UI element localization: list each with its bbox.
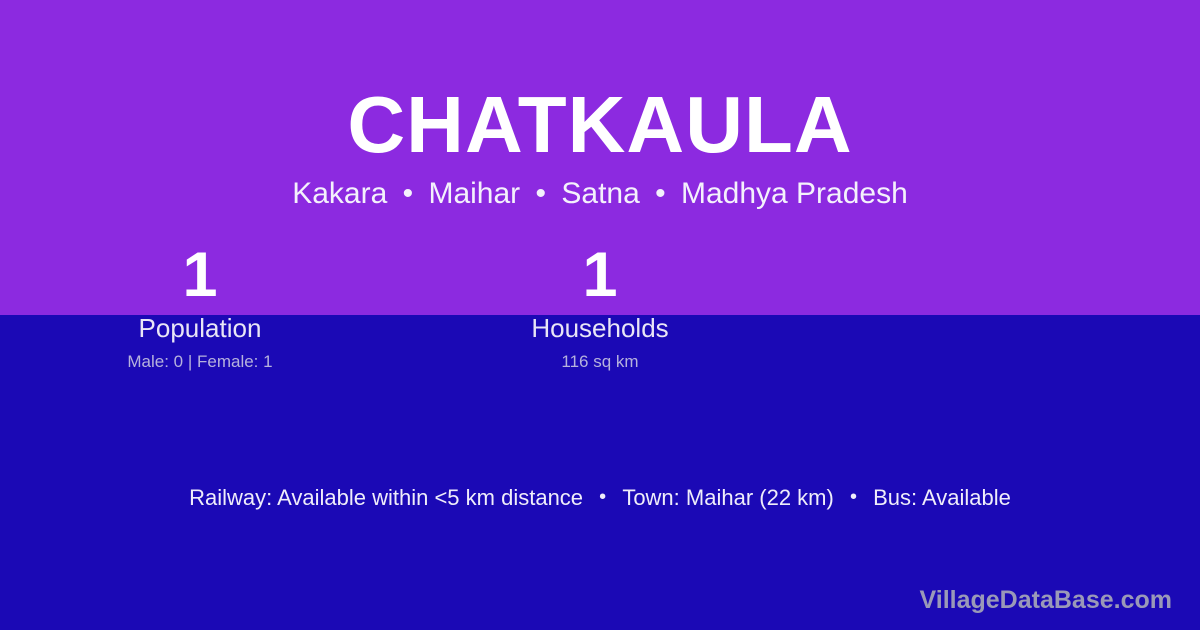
breadcrumb-separator: • — [648, 179, 673, 209]
stat-households: 1 Households 116 sq km — [400, 244, 800, 370]
amenity-separator: • — [589, 487, 616, 507]
amenity-separator: • — [840, 487, 867, 507]
stat-value-population: 1 — [0, 244, 400, 308]
stat-sub-population: Male: 0 | Female: 1 — [0, 353, 400, 370]
stat-population: 1 Population Male: 0 | Female: 1 — [0, 244, 400, 370]
site-brand-watermark: VillageDataBase.com — [920, 588, 1172, 613]
card-header: CHATKAULA Kakara • Maihar • Satna • Madh… — [0, 0, 1200, 209]
amenity-railway: Railway: Available within <5 km distance — [189, 487, 583, 509]
breadcrumb-item-district: Satna — [561, 177, 639, 210]
stat-label-households: Households — [400, 315, 800, 341]
breadcrumb-separator: • — [529, 179, 554, 209]
amenity-bus: Bus: Available — [873, 487, 1011, 509]
amenity-town: Town: Maihar (22 km) — [622, 487, 834, 509]
breadcrumb-item-block: Maihar — [428, 177, 520, 210]
amenities-line: Railway: Available within <5 km distance… — [0, 487, 1200, 509]
stat-value-households: 1 — [400, 244, 800, 308]
stat-label-population: Population — [0, 315, 400, 341]
breadcrumb-item-state: Madhya Pradesh — [681, 177, 908, 210]
breadcrumb-item-village: Kakara — [292, 177, 387, 210]
page-title: CHATKAULA — [0, 85, 1200, 165]
stat-sub-households: 116 sq km — [400, 353, 800, 370]
breadcrumb: Kakara • Maihar • Satna • Madhya Pradesh — [0, 179, 1200, 209]
breadcrumb-separator: • — [396, 179, 421, 209]
village-info-card: CHATKAULA Kakara • Maihar • Satna • Madh… — [0, 0, 1200, 630]
stats-row: 1 Population Male: 0 | Female: 1 1 House… — [0, 244, 1200, 370]
